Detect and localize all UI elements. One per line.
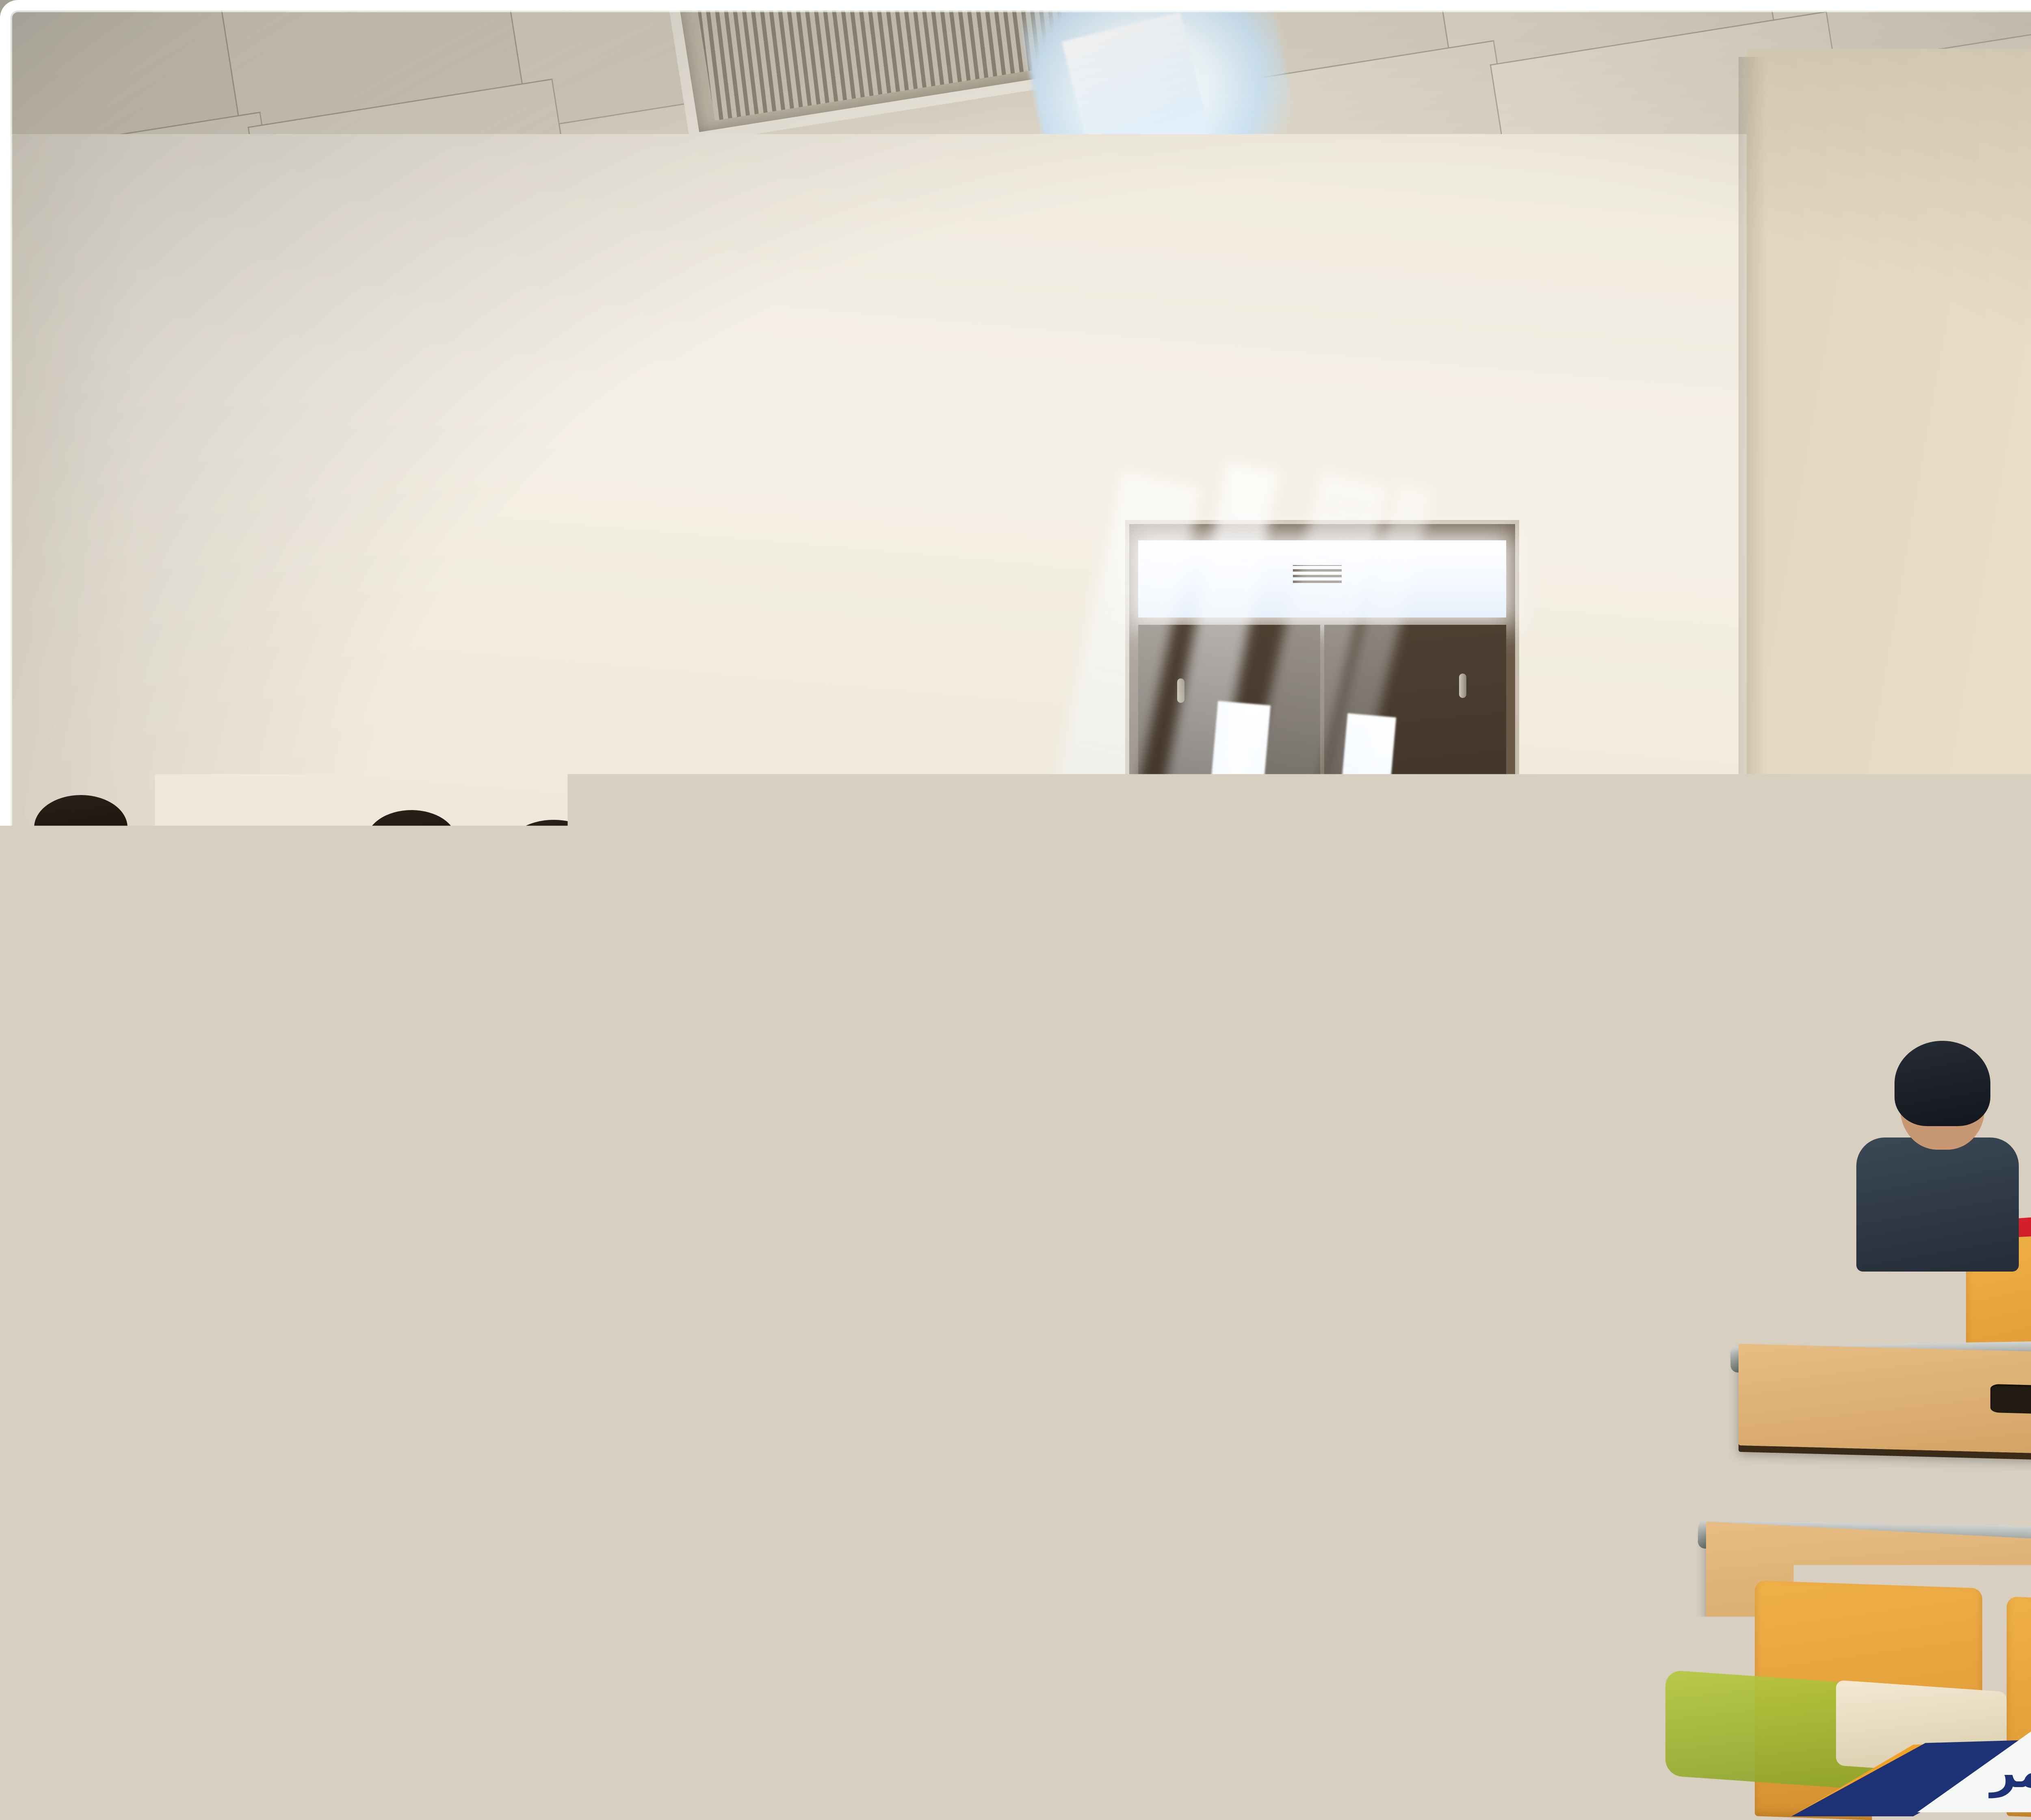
door-handle-left[interactable] xyxy=(1175,804,1182,842)
door-hinge-right xyxy=(1459,674,1466,698)
viewfinder-screen xyxy=(1570,875,1619,892)
notebook-on-desk[interactable] xyxy=(1836,1680,2007,1777)
attendee-face-mask xyxy=(561,882,612,930)
desk-cutout xyxy=(1990,1384,2031,1415)
wall-switch-plate[interactable] xyxy=(987,829,1064,877)
attendee-face-mask xyxy=(816,942,881,1012)
foreground-seat-silhouette xyxy=(0,1406,146,1820)
attendee-hair xyxy=(1378,957,1462,1018)
camera-viewfinder xyxy=(1560,869,1645,900)
attendee-a7 xyxy=(1129,926,1263,1137)
photograph-canvas: دورة تدريبية حول مهارات التدريس وطرائق ا… xyxy=(0,0,2031,1820)
attendee-a9 xyxy=(1852,1032,2023,1259)
seat-back[interactable] xyxy=(1430,1045,1556,1177)
door-handle-right[interactable] xyxy=(1458,796,1466,834)
attendee-body xyxy=(1129,1020,1263,1142)
attendee-glasses xyxy=(348,928,409,958)
seat-back[interactable] xyxy=(934,988,1052,1116)
seat-back[interactable] xyxy=(861,1588,1093,1820)
door-hinge-left xyxy=(1177,678,1184,703)
tripod-leg-left xyxy=(1600,1023,1680,1376)
camera-lens-icon xyxy=(1515,918,1584,970)
desk-surface xyxy=(1739,1344,2031,1464)
attendee-cap xyxy=(1895,1041,1990,1126)
attendee-hair xyxy=(505,820,602,885)
door-transom-window xyxy=(1138,540,1506,617)
seat-back[interactable] xyxy=(2007,1597,2031,1820)
seat-back[interactable] xyxy=(1284,1029,1410,1161)
attendee-hair xyxy=(366,810,457,871)
paper-sheet[interactable] xyxy=(600,1189,704,1245)
seat-back[interactable] xyxy=(609,1569,837,1820)
attendee-hair xyxy=(751,862,864,943)
seat-back[interactable] xyxy=(1113,1608,1349,1820)
attendee-hair xyxy=(1155,930,1235,991)
attendee-body xyxy=(1856,1137,2019,1272)
paper-sheet[interactable] xyxy=(1039,1187,1151,1246)
